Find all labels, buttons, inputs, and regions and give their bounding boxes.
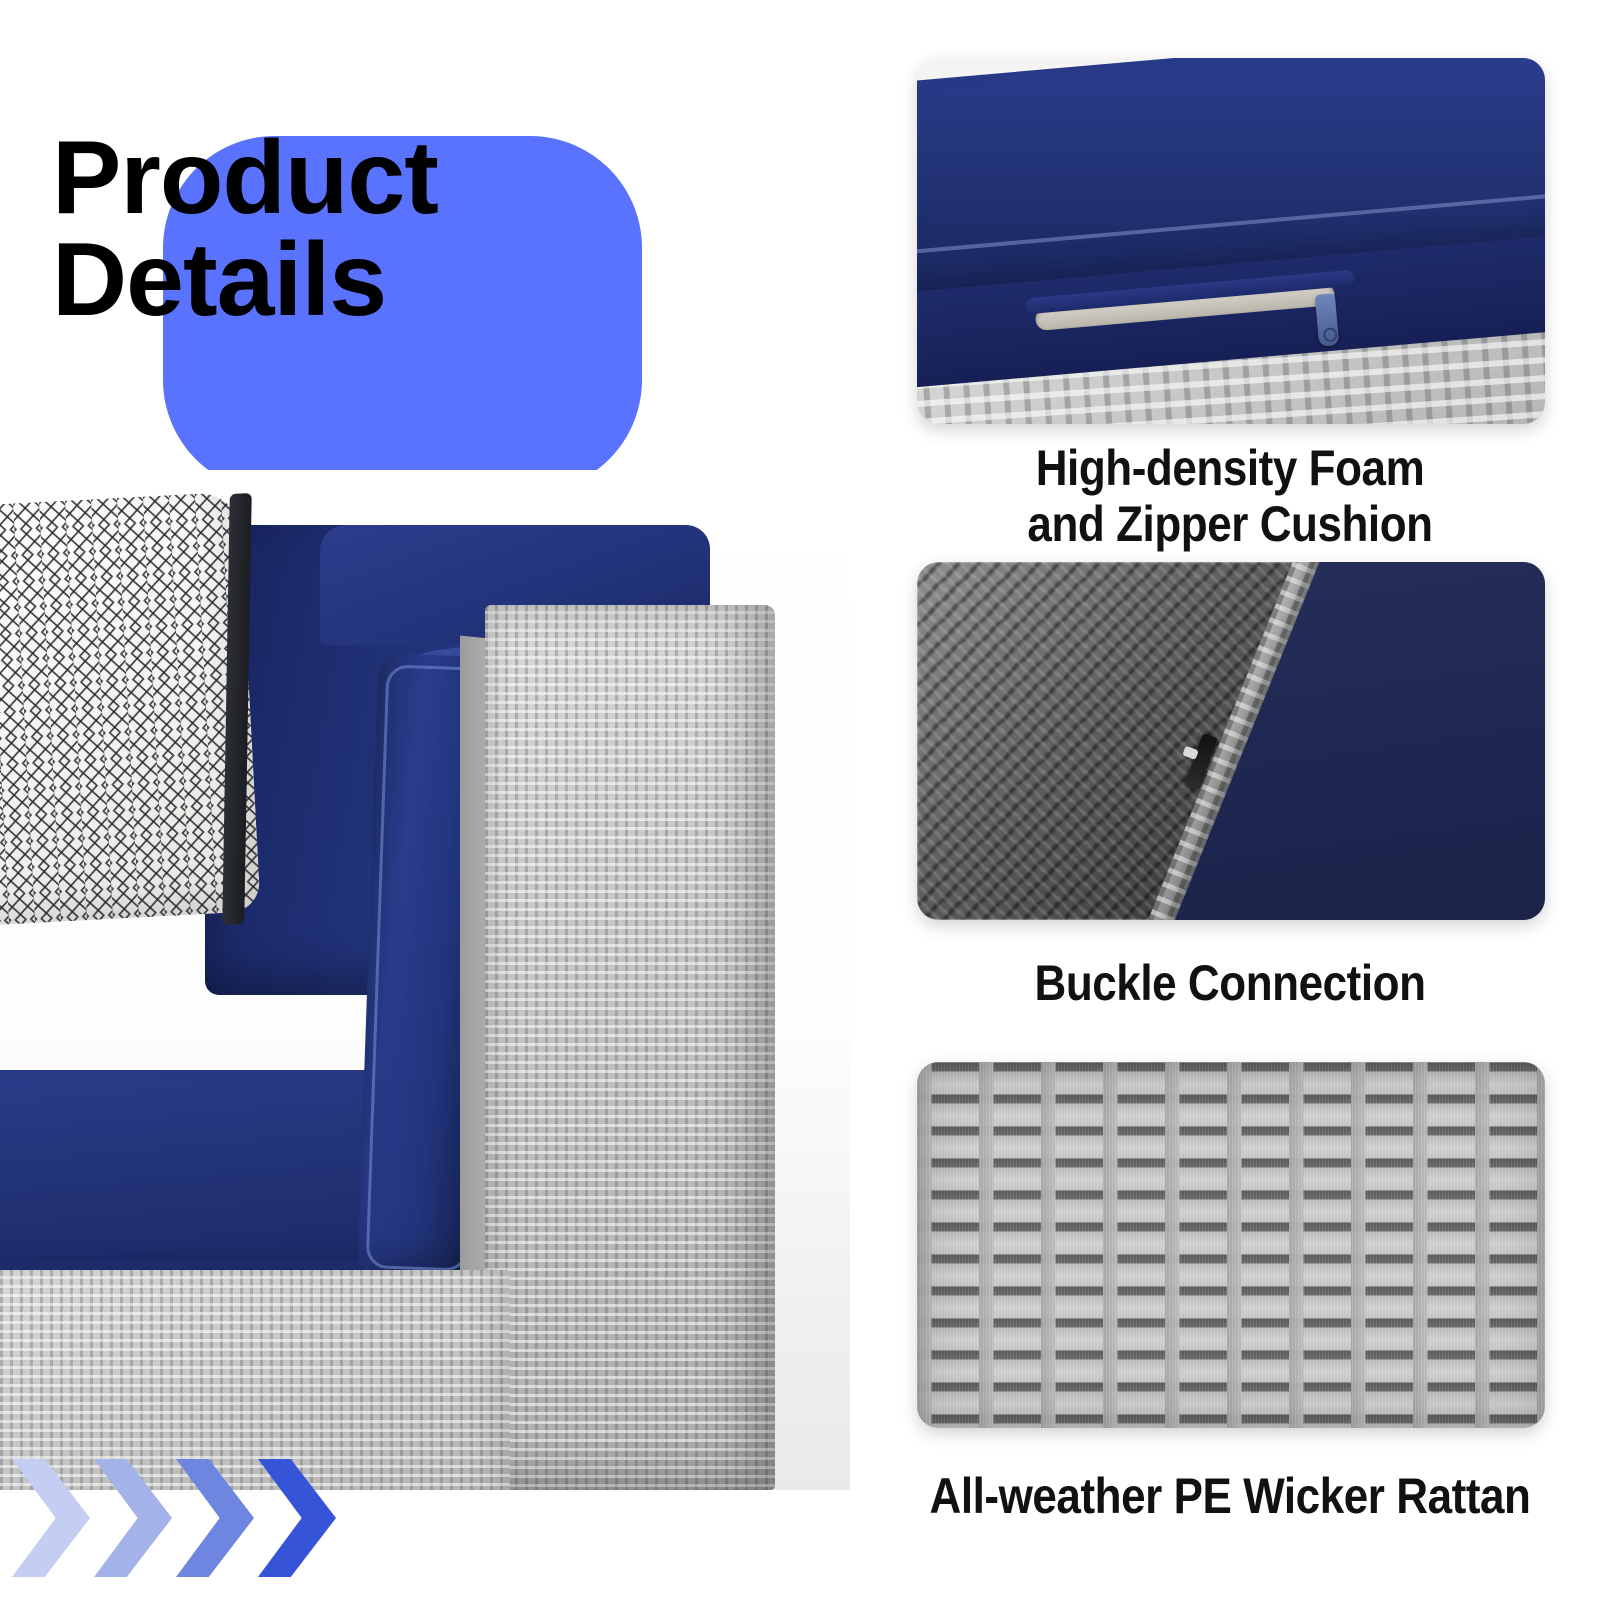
caption-pe-wicker-rattan: All-weather PE Wicker Rattan — [904, 1468, 1555, 1524]
chevron-arrow-icon-1 — [12, 1459, 90, 1577]
chevron-arrow-icon-4 — [258, 1459, 336, 1577]
product-details-infographic: Product Details High-density Foam and Zi… — [0, 0, 1600, 1600]
chevron-arrow-icon-2 — [94, 1459, 172, 1577]
panel3-vignette — [917, 1062, 1545, 1428]
page-title: Product Details — [52, 128, 672, 332]
caption-high-density-foam: High-density Foam and Zipper Cushion — [922, 440, 1538, 552]
chevron-throw-pillow — [0, 492, 261, 929]
detail-panel-buckle-connection — [917, 562, 1545, 920]
detail-panel-pe-wicker-rattan — [917, 1062, 1545, 1428]
caption-buckle-connection: Buckle Connection — [922, 955, 1538, 1011]
hero-product-photo — [0, 470, 850, 1490]
chevron-arrow-row — [12, 1448, 432, 1588]
wicker-arm-panel — [485, 605, 775, 1490]
detail-panel-high-density-foam — [917, 58, 1545, 424]
chevron-arrow-icon-3 — [176, 1459, 254, 1577]
